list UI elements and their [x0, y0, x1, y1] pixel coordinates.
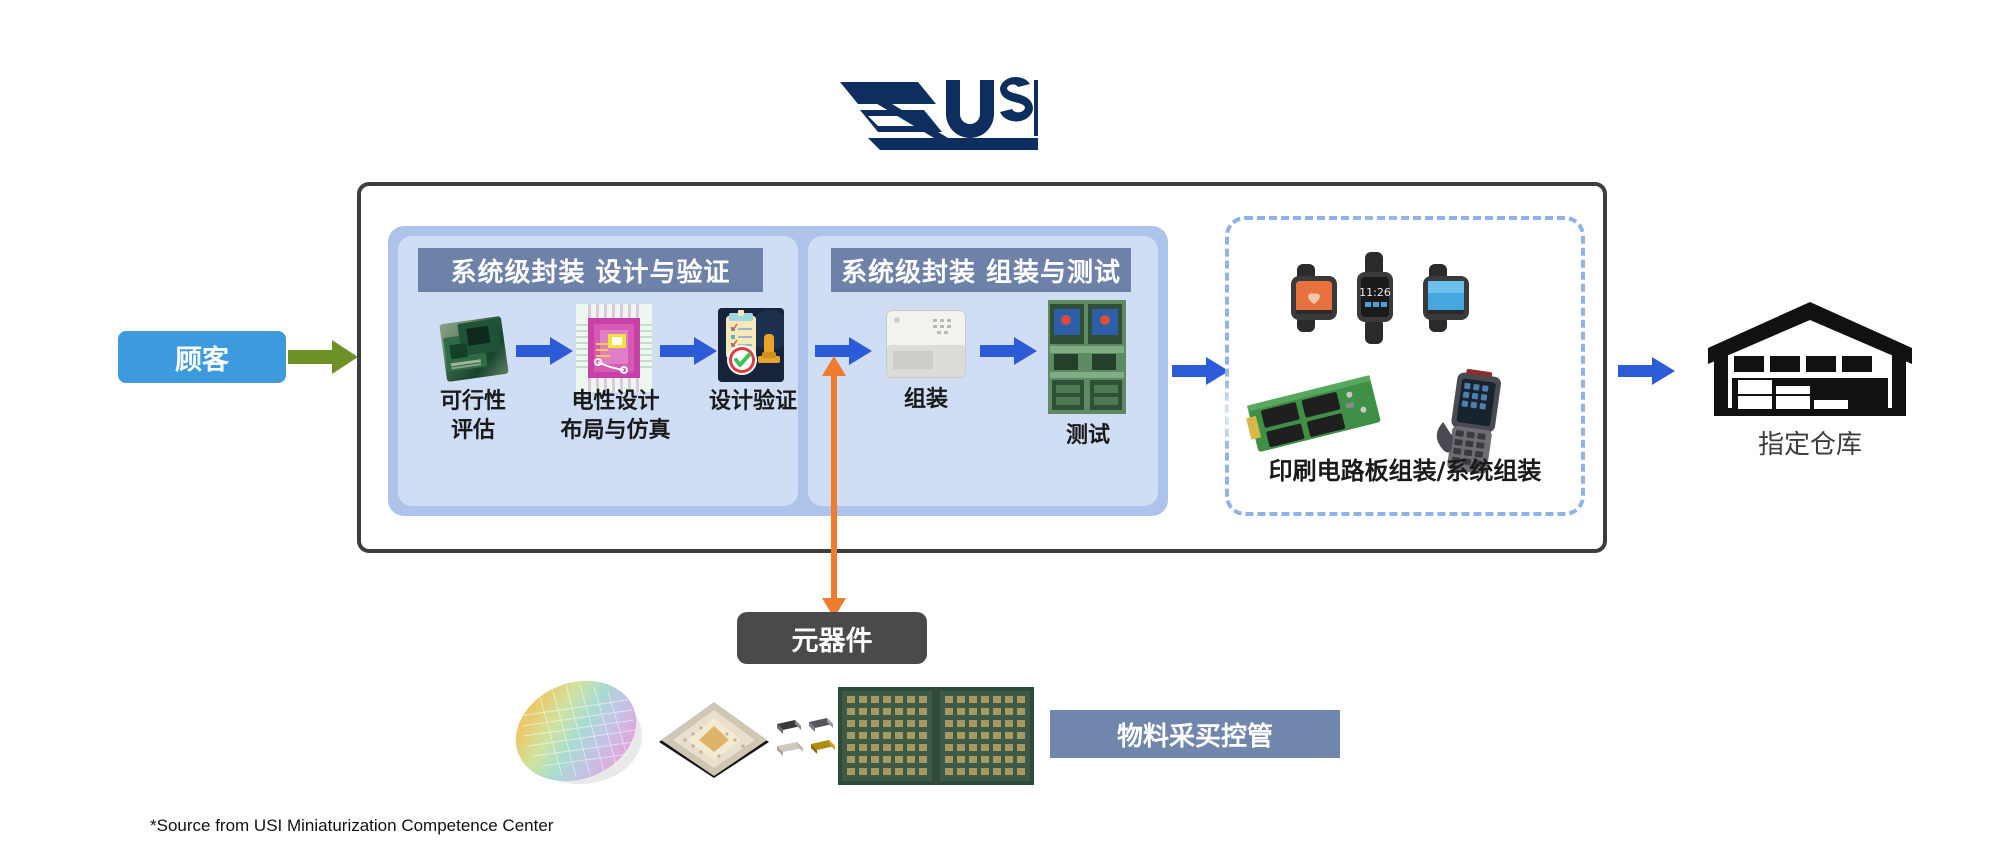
material-control-box[interactable]: 物料采买控管: [1050, 710, 1340, 758]
arrow-design-2: [660, 336, 718, 371]
component-label: 元器件: [792, 619, 873, 658]
arrow-components-bidirectional: [815, 356, 853, 618]
component-box[interactable]: 元器件: [737, 612, 927, 664]
silicon-wafer-image: [508, 676, 648, 788]
chip-layout-icon: [576, 304, 652, 392]
warehouse-label: 指定仓库: [1700, 424, 1920, 461]
sip-module-icon: [886, 310, 966, 378]
source-footnote: *Source from USI Miniaturization Compete…: [150, 816, 553, 836]
arrow-pcba-to-warehouse: [1618, 356, 1676, 391]
diagram-canvas: 顾客 系统级封装 设计与验证 系统级封装 组装与测试: [0, 0, 2000, 868]
arrow-sip-to-pcba: [1172, 356, 1230, 391]
sip-assembly-step-0-label: 组装: [878, 386, 974, 415]
usi-logo: [838, 70, 1038, 150]
smartwatch-trio-image: 11:26: [1267, 238, 1497, 358]
material-control-label: 物料采买控管: [1117, 716, 1273, 753]
test-rack-icon: [1048, 300, 1126, 414]
arrow-assembly-to-test: [980, 336, 1038, 371]
sip-design-header-label: 系统级封装 设计与验证: [450, 252, 730, 289]
pcba-label: 印刷电路板组装/系统组装: [1229, 451, 1581, 486]
sip-assembly-step-1-label: 测试: [1040, 422, 1136, 451]
sip-design-step-2-label: 设计验证: [698, 388, 808, 417]
watch-time-text: 11:26: [1359, 286, 1391, 299]
sip-design-step-0-label: 可行性 评估: [413, 388, 533, 445]
sip-panel: 系统级封装 设计与验证 系统级封装 组装与测试 可行性 评估: [388, 226, 1168, 516]
arrow-customer-to-process: [288, 338, 360, 381]
sip-assembly-header-label: 系统级封装 组装与测试: [841, 252, 1121, 289]
smd-chips-image: [775, 710, 837, 766]
sip-design-step-1-label: 电性设计 布局与仿真: [548, 388, 683, 445]
pcb-substrate-panel-image: [838, 687, 1034, 785]
customer-label: 顾客: [175, 338, 229, 377]
customer-box[interactable]: 顾客: [118, 331, 286, 383]
sip-design-header: 系统级封装 设计与验证: [418, 248, 763, 292]
chip-photo-icon: [439, 316, 508, 382]
pcba-dashed-box: 11:26: [1225, 216, 1585, 516]
sip-assembly-header: 系统级封装 组装与测试: [831, 248, 1131, 292]
arrow-design-1: [516, 336, 574, 371]
bga-die-image: [655, 700, 773, 784]
warehouse-group: 指定仓库: [1700, 298, 1920, 458]
warehouse-icon: [1700, 298, 1920, 418]
design-verification-icon: [718, 308, 784, 382]
